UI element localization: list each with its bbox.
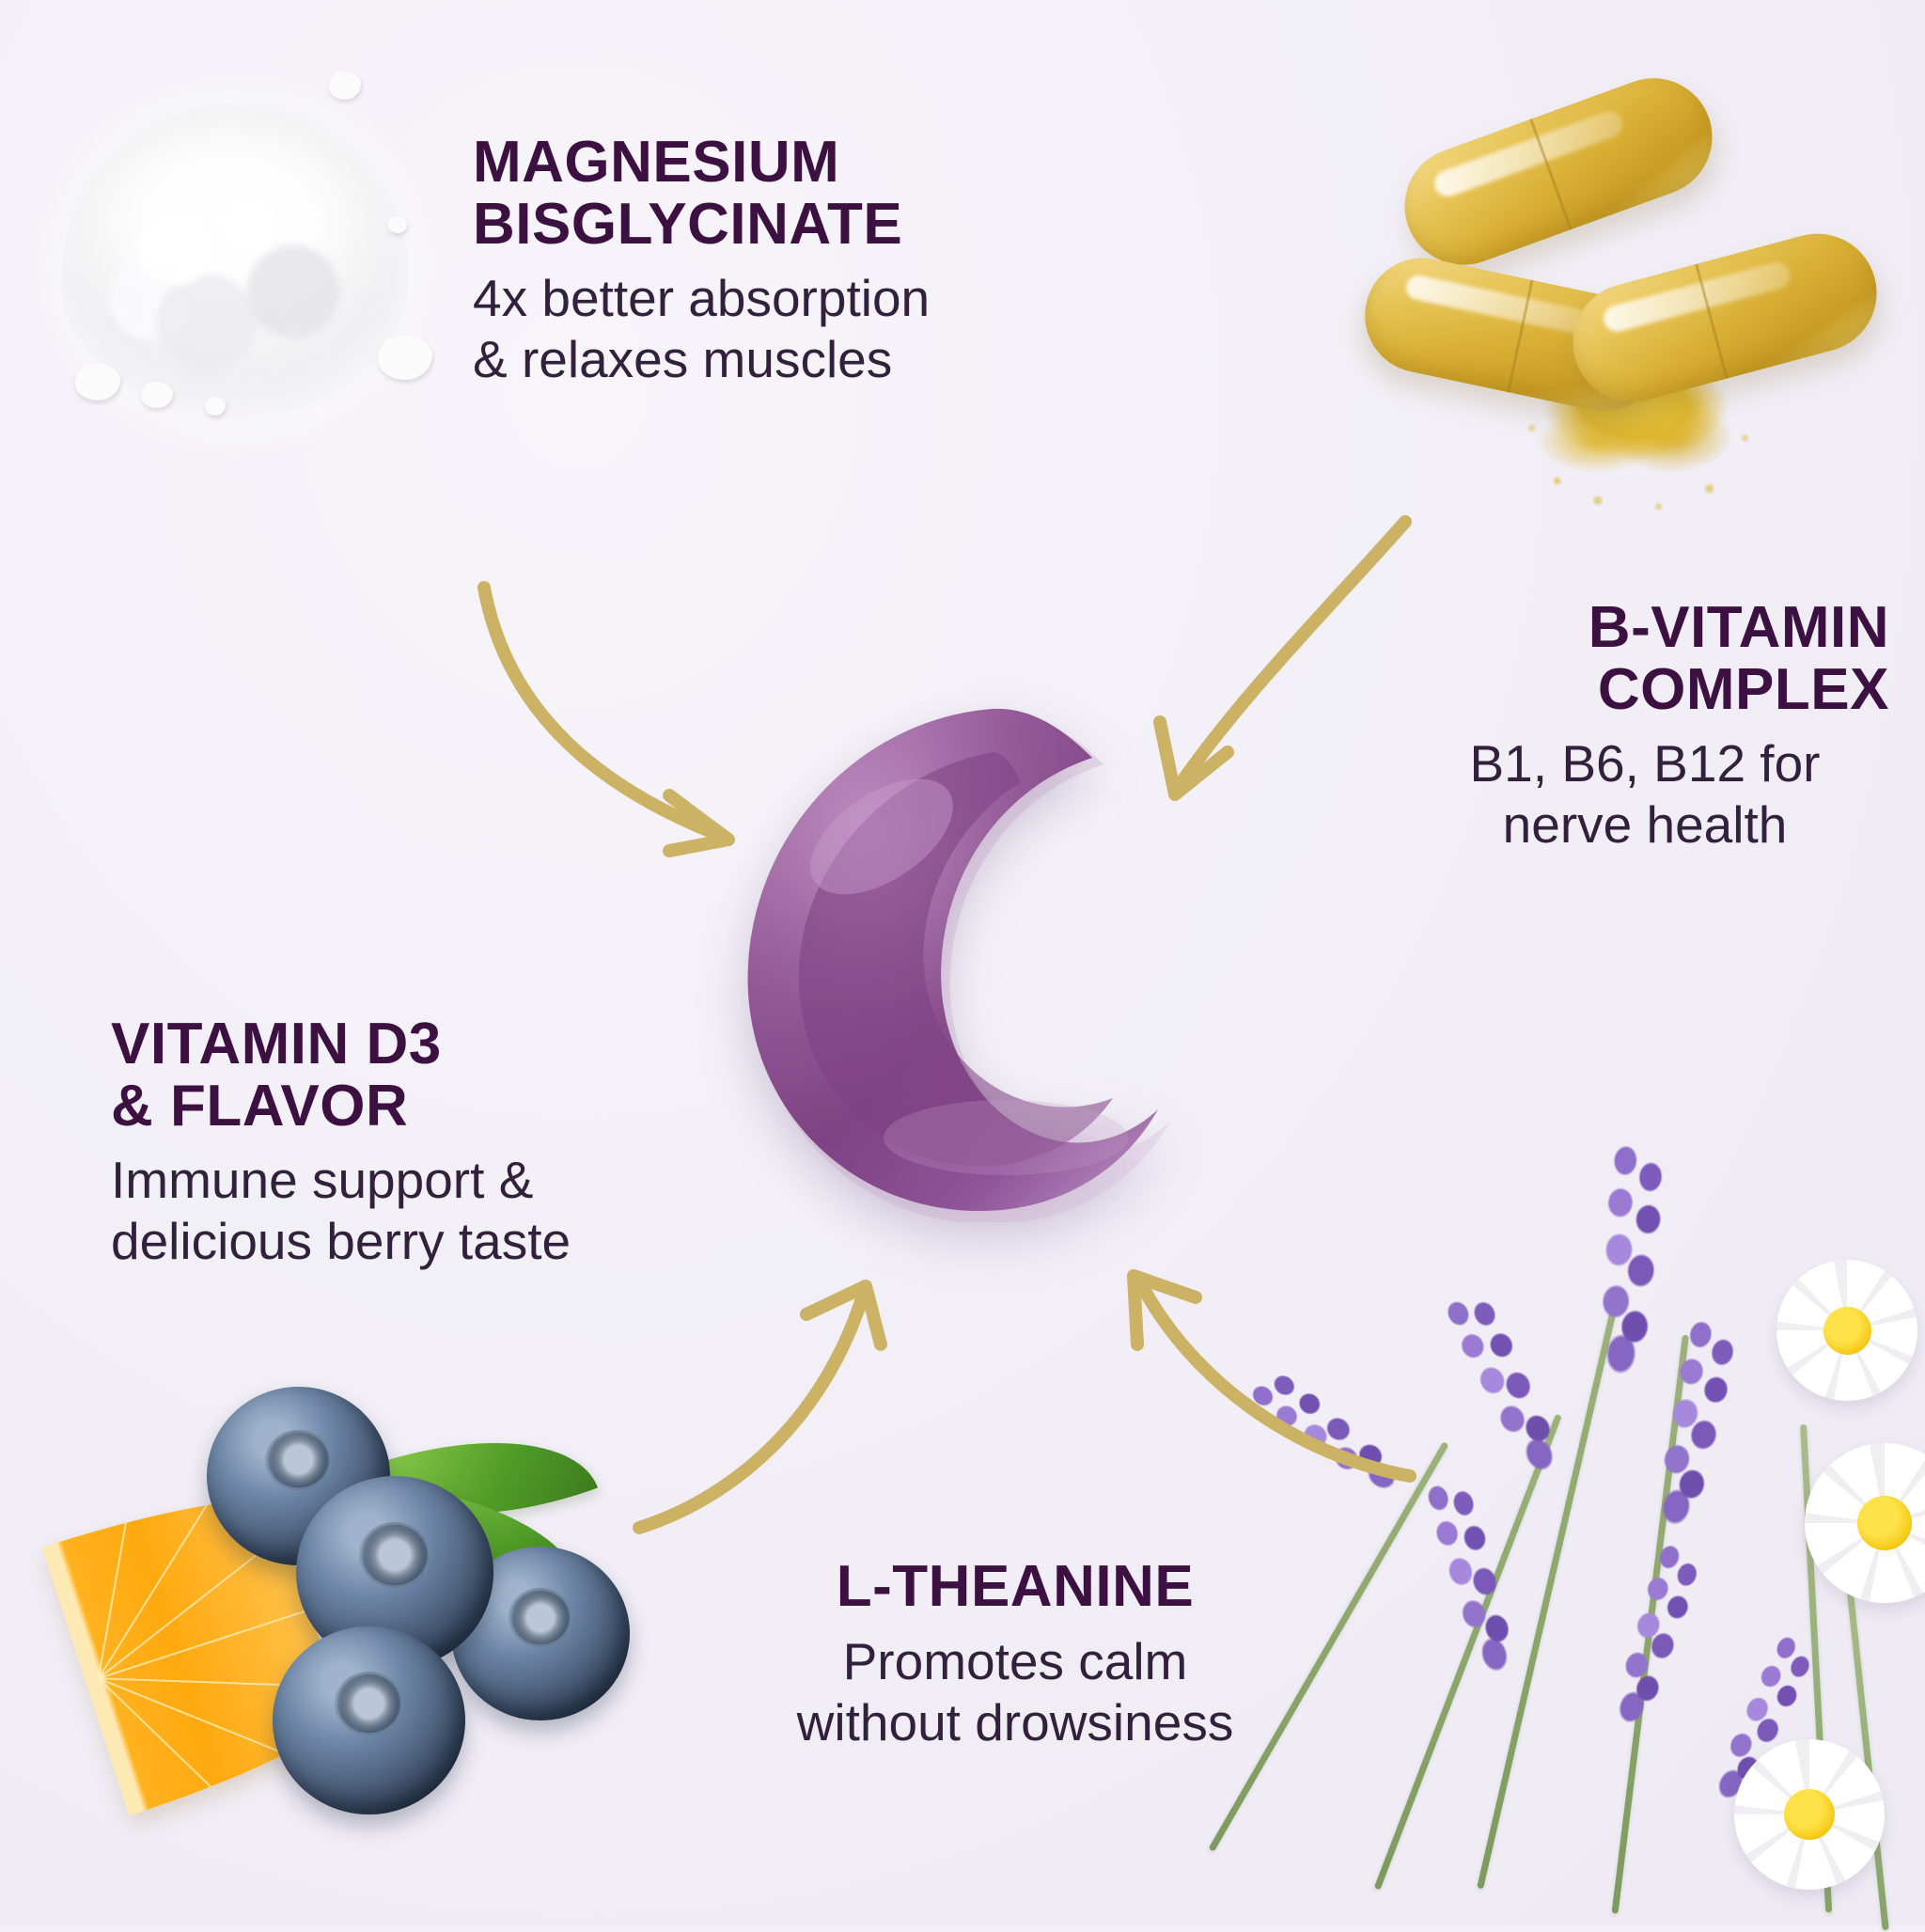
- subtitle-line-1: B1, B6, B12 for: [1470, 734, 1821, 793]
- heading-line-1: B-VITAMIN: [1589, 595, 1889, 660]
- callout-b-vitamin-heading: B-VITAMIN COMPLEX: [1401, 597, 1889, 720]
- crescent-moon-gummy: [724, 696, 1231, 1222]
- gummy-moon-shape: [724, 696, 1231, 1222]
- callout-magnesium-subtitle: 4x better absorption & relaxes muscles: [473, 268, 999, 390]
- subtitle-line-1: Immune support &: [111, 1151, 533, 1209]
- callout-magnesium: MAGNESIUM BISGLYCINATE 4x better absorpt…: [473, 132, 999, 390]
- subtitle-line-1: Promotes calm: [843, 1632, 1188, 1690]
- arrow-theanine-to-center: [1139, 1280, 1410, 1476]
- callout-l-theanine: L-THEANINE Promotes calm without drowsin…: [724, 1556, 1307, 1753]
- heading-line-2: BISGLYCINATE: [473, 192, 902, 257]
- subtitle-line-2: & relaxes muscles: [473, 330, 892, 388]
- arrow-d3-to-center: [639, 1296, 863, 1528]
- callout-l-theanine-heading: L-THEANINE: [724, 1556, 1307, 1618]
- heading-line-2: & FLAVOR: [111, 1074, 408, 1139]
- heading-line-2: COMPLEX: [1598, 657, 1889, 722]
- callout-vitamin-d3: VITAMIN D3 & FLAVOR Immune support & del…: [111, 1013, 637, 1272]
- callout-l-theanine-subtitle: Promotes calm without drowsiness: [724, 1631, 1307, 1753]
- heading-line-1: MAGNESIUM: [473, 130, 839, 195]
- callout-magnesium-heading: MAGNESIUM BISGLYCINATE: [473, 132, 999, 255]
- subtitle-line-2: delicious berry taste: [111, 1212, 571, 1270]
- subtitle-line-2: without drowsiness: [797, 1693, 1234, 1751]
- callout-b-vitamin: B-VITAMIN COMPLEX B1, B6, B12 for nerve …: [1401, 597, 1889, 856]
- infographic-canvas: MAGNESIUM BISGLYCINATE 4x better absorpt…: [0, 0, 1925, 1925]
- callout-b-vitamin-subtitle: B1, B6, B12 for nerve health: [1401, 733, 1889, 856]
- heading-line-1: VITAMIN D3: [111, 1012, 442, 1076]
- callout-vitamin-d3-heading: VITAMIN D3 & FLAVOR: [111, 1013, 637, 1137]
- arrow-magnesium-to-center: [484, 588, 724, 837]
- callout-vitamin-d3-subtitle: Immune support & delicious berry taste: [111, 1150, 637, 1272]
- subtitle-line-1: 4x better absorption: [473, 269, 930, 327]
- subtitle-line-2: nerve health: [1503, 795, 1788, 854]
